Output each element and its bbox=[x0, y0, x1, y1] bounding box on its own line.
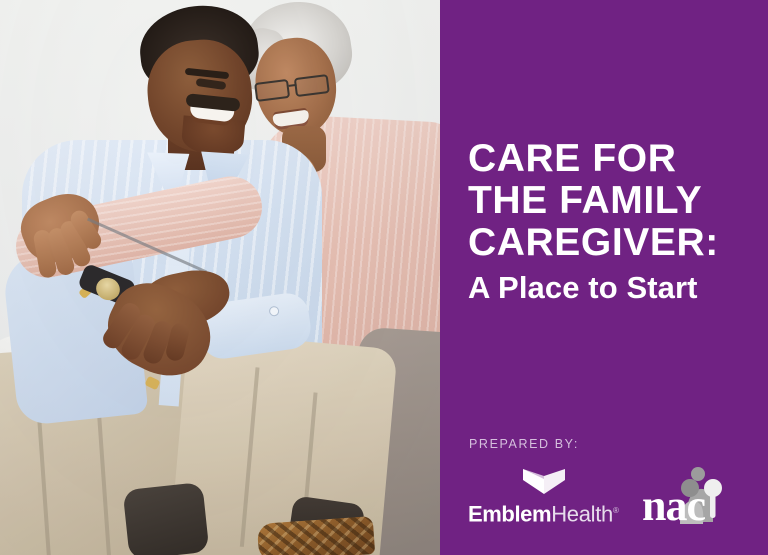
emblemhealth-logo: EmblemHealth® bbox=[468, 467, 620, 526]
title-line-1: CARE FOR bbox=[468, 138, 756, 180]
nac-wordmark: nac bbox=[642, 484, 705, 528]
report-cover: CARE FOR THE FAMILY CAREGIVER: A Place t… bbox=[0, 0, 768, 555]
emblem-word: Emblem bbox=[468, 501, 551, 526]
cover-title-panel: CARE FOR THE FAMILY CAREGIVER: A Place t… bbox=[440, 0, 768, 555]
older-couple-photo bbox=[0, 0, 440, 555]
photo-vignette bbox=[0, 0, 440, 555]
registered-mark: ® bbox=[613, 506, 619, 515]
title-line-3: CAREGIVER: bbox=[468, 222, 756, 264]
logo-row: EmblemHealth® nac bbox=[468, 462, 730, 526]
chevron-leaf-icon bbox=[468, 467, 620, 495]
title-line-2: THE FAMILY bbox=[468, 180, 756, 222]
emblemhealth-wordmark: EmblemHealth® bbox=[468, 499, 620, 526]
nac-logo: nac bbox=[642, 462, 730, 526]
health-word: Health bbox=[551, 501, 613, 526]
prepared-by-label: PREPARED BY: bbox=[469, 437, 579, 451]
page-subtitle: A Place to Start bbox=[468, 268, 756, 308]
page-title: CARE FOR THE FAMILY CAREGIVER: A Place t… bbox=[468, 138, 756, 308]
